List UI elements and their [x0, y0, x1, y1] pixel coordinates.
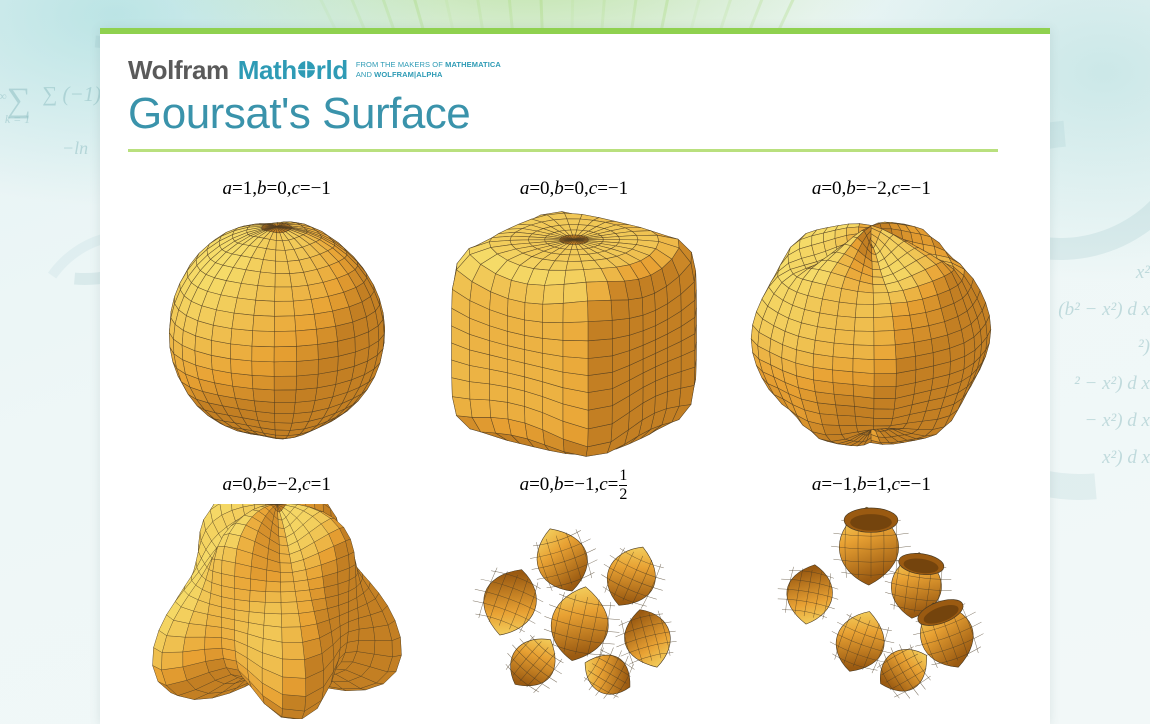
param-b: b [257, 474, 267, 496]
logo-text-wolfram: Wolfram [128, 56, 229, 84]
param-c-value: 1 [321, 474, 331, 496]
param-a-value: −1 [832, 474, 852, 496]
param-c-value: −1 [608, 178, 628, 200]
figure-caption: a = 0, b = 0, c = −1 [520, 170, 628, 208]
site-logo[interactable]: Wolfram Mathrld FROM THE MAKERS OF MATHE… [128, 56, 1020, 86]
param-a: a [223, 178, 233, 200]
param-b: b [554, 178, 564, 200]
title-divider [128, 149, 998, 152]
tagline-line-2: AND WOLFRAM|ALPHA [356, 70, 443, 79]
tagline-wolframalpha: WOLFRAM|ALPHA [374, 70, 442, 79]
page-title: Goursat's Surface [128, 88, 1020, 140]
globe-icon [298, 61, 315, 78]
figure-cell: a = 1, b = 0, c = −1 [128, 170, 425, 466]
surface-plot-goursat-a0-bm2-c1 [137, 504, 417, 719]
logo-text-math: Math [238, 56, 297, 84]
card-inner: Wolfram Mathrld FROM THE MAKERS OF MATHE… [100, 34, 1050, 719]
param-b-value: −1 [574, 474, 594, 496]
surface-plot-svg [731, 504, 1011, 719]
figure-caption: a = 0, b = −1, c = 12 [520, 466, 629, 504]
figure-grid: a = 1, b = 0, c = −1a = 0, b = 0, c = −1… [128, 170, 1020, 719]
fraction-denominator: 2 [619, 485, 627, 503]
param-c: c [891, 474, 899, 496]
figure-cell: a = 0, b = −2, c = 1 [128, 466, 425, 719]
param-a-value: 0 [540, 178, 550, 200]
param-a-value: 0 [832, 178, 842, 200]
param-b-value: 0 [575, 178, 585, 200]
param-c-value: −1 [911, 178, 931, 200]
param-b: b [857, 474, 867, 496]
fraction-numerator: 1 [619, 467, 627, 484]
param-b-value: −2 [867, 178, 887, 200]
surface-plot-svg [137, 208, 417, 466]
param-b-value: 0 [277, 178, 287, 200]
param-a-value: 1 [243, 178, 253, 200]
tagline-prefix-1: FROM THE MAKERS OF [356, 60, 445, 69]
param-b: b [554, 474, 564, 496]
param-c: c [891, 178, 899, 200]
figure-cell: a = 0, b = 0, c = −1 [425, 170, 722, 466]
param-c-value: −1 [311, 178, 331, 200]
figure-caption: a = 0, b = −2, c = 1 [223, 466, 331, 504]
surface-plot-goursat-a1-b0-cm1 [137, 208, 417, 466]
content-card: Wolfram Mathrld FROM THE MAKERS OF MATHE… [100, 28, 1050, 724]
param-c: c [589, 178, 597, 200]
logo-text-world: rld [316, 56, 348, 84]
param-a: a [812, 178, 822, 200]
param-b: b [257, 178, 267, 200]
param-c: c [302, 474, 310, 496]
logo-tagline: FROM THE MAKERS OF MATHEMATICA AND WOLFR… [356, 56, 501, 79]
param-a-value: 0 [243, 474, 253, 496]
param-c: c [599, 474, 607, 496]
figure-caption: a = −1, b = 1, c = −1 [812, 466, 931, 504]
param-c: c [291, 178, 299, 200]
param-a-value: 0 [540, 474, 550, 496]
figure-cell: a = 0, b = −2, c = −1 [723, 170, 1020, 466]
tagline-prefix-2: AND [356, 70, 374, 79]
param-b: b [846, 178, 856, 200]
surface-plot-svg [434, 208, 714, 466]
param-a: a [520, 178, 530, 200]
surface-plot-svg [434, 504, 714, 719]
surface-plot-goursat-a0-bm1-chalf [434, 504, 714, 719]
background-formula-left-2: −ln [62, 138, 88, 159]
surface-plot-goursat-a0-bm2-cm1 [731, 208, 1011, 466]
surface-plot-goursat-am1-b1-cm1 [731, 504, 1011, 719]
param-a: a [520, 474, 530, 496]
tagline-mathematica: MATHEMATICA [445, 60, 501, 69]
param-a: a [812, 474, 822, 496]
param-c-value: −1 [911, 474, 931, 496]
figure-caption: a = 0, b = −2, c = −1 [812, 170, 931, 208]
surface-plot-svg [137, 504, 417, 719]
tagline-line-1: FROM THE MAKERS OF MATHEMATICA [356, 60, 501, 69]
param-b-value: −2 [277, 474, 297, 496]
figure-cell: a = −1, b = 1, c = −1 [723, 466, 1020, 719]
surface-plot-goursat-a0-b0-cm1 [434, 208, 714, 466]
figure-caption: a = 1, b = 0, c = −1 [223, 170, 331, 208]
figure-cell: a = 0, b = −1, c = 12 [425, 466, 722, 719]
sum-limit-bottom: k = 1 [5, 112, 30, 127]
param-b-value: 1 [877, 474, 887, 496]
param-a: a [223, 474, 233, 496]
param-c-value: 12 [619, 467, 627, 503]
logo-text-mathworld: Mathrld [238, 56, 348, 84]
surface-plot-svg [731, 208, 1011, 466]
